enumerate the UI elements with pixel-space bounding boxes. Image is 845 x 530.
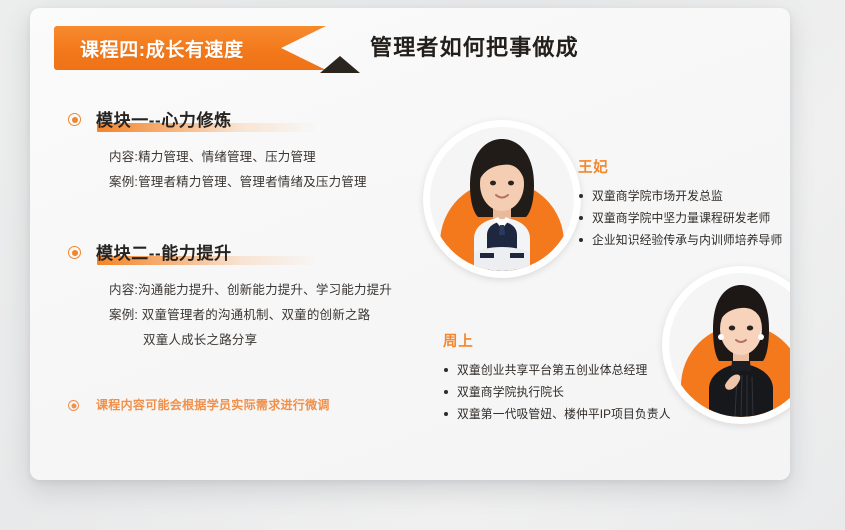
page-title: 管理者如何把事做成: [370, 29, 579, 67]
bullet-dot-icon: [579, 216, 583, 220]
profile-wang-fei: 王妃 双童商学院市场开发总监 双童商学院中坚力量课程研发老师 企业知识经验传承与…: [578, 156, 790, 251]
bullet-dot-icon: [444, 390, 448, 394]
module-line: 案例:管理者精力管理、管理者情绪及压力管理: [109, 170, 424, 195]
profile-item-text: 双童商学院执行院长: [457, 385, 564, 399]
module-title: 模块二--能力提升: [96, 244, 232, 263]
avatar-wang-fei: [423, 120, 581, 278]
ring-bullet-icon: [68, 400, 79, 411]
portrait-illustration-wang-fei: [430, 127, 574, 271]
profile-item-text: 双童商学院市场开发总监: [592, 189, 723, 203]
profile-name: 王妃: [578, 156, 790, 177]
module-line: 内容:精力管理、情绪管理、压力管理: [109, 145, 424, 170]
module-title: 模块一--心力修炼: [96, 111, 232, 130]
module-body: 内容:沟通能力提升、创新能力提升、学习能力提升 案例: 双童管理者的沟通机制、双…: [64, 269, 424, 353]
profile-item-text: 双童第一代吸管妞、楼仲平IP项目负责人: [457, 407, 671, 421]
profile-item-text: 双童创业共享平台第五创业体总经理: [457, 363, 647, 377]
profile-item: 企业知识经验传承与内训师培养导师: [578, 229, 790, 251]
module-block: 模块一--心力修炼 内容:精力管理、情绪管理、压力管理 案例:管理者精力管理、管…: [64, 106, 424, 195]
profile-item: 双童商学院中坚力量课程研发老师: [578, 207, 790, 229]
module-line: 内容:沟通能力提升、创新能力提升、学习能力提升: [109, 278, 424, 303]
profile-zhou-shang: 周上 双童创业共享平台第五创业体总经理 双童商学院执行院长 双童第一代吸管妞、楼…: [443, 330, 693, 425]
ribbon-tail-triangle: [320, 56, 360, 73]
profile-item: 双童创业共享平台第五创业体总经理: [443, 359, 693, 381]
modules-column: 模块一--心力修炼 内容:精力管理、情绪管理、压力管理 案例:管理者精力管理、管…: [64, 106, 424, 375]
bullet-dot-icon: [579, 238, 583, 242]
slide-header: 课程四:成长有速度 管理者如何把事做成: [30, 26, 790, 70]
course-ribbon: 课程四:成长有速度: [54, 26, 326, 70]
bullet-dot-icon: [444, 412, 448, 416]
bullet-dot-icon: [579, 194, 583, 198]
profile-item: 双童第一代吸管妞、楼仲平IP项目负责人: [443, 403, 693, 425]
profile-name: 周上: [443, 330, 693, 351]
profile-item-text: 企业知识经验传承与内训师培养导师: [592, 233, 782, 247]
course-ribbon-label: 课程四:成长有速度: [54, 35, 244, 62]
module-line: 案例: 双童管理者的沟通机制、双童的创新之路: [109, 303, 424, 328]
footnote-text: 课程内容可能会根据学员实际需求进行微调: [64, 396, 424, 414]
module-line: 双童人成长之路分享: [109, 328, 424, 353]
module-body: 内容:精力管理、情绪管理、压力管理 案例:管理者精力管理、管理者情绪及压力管理: [64, 136, 424, 195]
profile-item-text: 双童商学院中坚力量课程研发老师: [592, 211, 770, 225]
module-header: 模块一--心力修炼: [64, 106, 424, 136]
bullet-dot-icon: [444, 368, 448, 372]
footnote: 课程内容可能会根据学员实际需求进行微调: [64, 396, 424, 416]
profile-item: 双童商学院执行院长: [443, 381, 693, 403]
ring-bullet-icon: [68, 246, 81, 259]
slide-card: 课程四:成长有速度 管理者如何把事做成 模块一--心力修炼 内容:精力管理、情绪…: [30, 8, 790, 480]
module-header: 模块二--能力提升: [64, 239, 424, 269]
avatar-image-clip: [430, 127, 574, 271]
ribbon-shape: 课程四:成长有速度: [54, 26, 326, 70]
profile-item: 双童商学院市场开发总监: [578, 185, 790, 207]
ring-bullet-icon: [68, 113, 81, 126]
module-block: 模块二--能力提升 内容:沟通能力提升、创新能力提升、学习能力提升 案例: 双童…: [64, 239, 424, 353]
